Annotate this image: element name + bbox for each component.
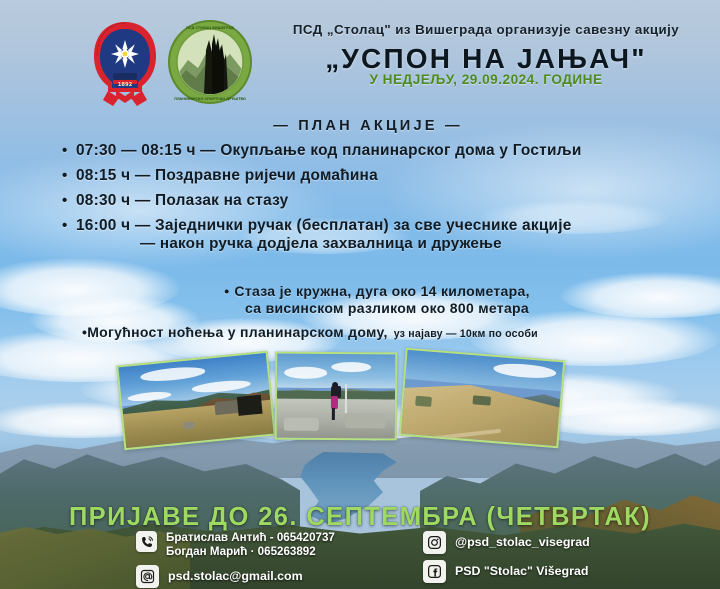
photo-rock	[183, 421, 194, 429]
note-text: Могућност ноћења у планинарском дому,	[87, 324, 388, 340]
schedule-item: • 08:15 ч — Поздравне ријечи домаћина	[62, 167, 692, 185]
phone-contact-1: Братислав Антић - 065420737	[166, 531, 335, 545]
schedule-item-text: 08:15 ч — Поздравне ријечи домаћина	[76, 167, 378, 185]
headline-block: ПСД „Столац" из Вишеграда организује сав…	[258, 22, 714, 87]
schedule-item: • 16:00 ч — Заједнички ручак (бесплатан)…	[62, 217, 692, 235]
note-item-continuation: са висинском разликом око 800 метара	[62, 300, 692, 316]
bullet-icon: •	[62, 218, 76, 233]
registration-deadline-text: ПРИЈАВЕ ДО 26. СЕПТЕМБРА (ЧЕТВРТАК)	[0, 503, 720, 532]
photo-summit-pole	[345, 384, 347, 413]
phone-contact-lines: Братислав Антић - 065420737 Богдан Марић…	[166, 531, 335, 559]
photo-rock	[284, 417, 319, 431]
photo-hiker-legs	[332, 408, 335, 420]
contact-block: Братислав Антић - 065420737 Богдан Марић…	[0, 531, 720, 587]
schedule-item-text: 07:30 — 08:15 ч — Окупљање код планинарс…	[76, 142, 582, 160]
instagram-icon	[423, 531, 446, 554]
kicker-text: ПСД „Столац" из Вишеграда организује сав…	[258, 22, 714, 37]
photo-hiker-summit	[275, 352, 398, 441]
phone-icon	[136, 531, 157, 552]
page-title: „УСПОН НА ЈАЊАЧ"	[258, 43, 714, 75]
note-text: Стаза је кружна, дуга око 14 километара,	[234, 283, 529, 299]
photo-bush	[472, 396, 491, 406]
phone-contact-2: Богдан Марић · 065263892	[166, 545, 335, 559]
plan-heading: — ПЛАН АКЦИЈЕ —	[258, 118, 478, 134]
facebook-icon	[423, 560, 446, 583]
poster-canvas: 1892 ПСД СТОЛАЦ ВИШЕГР	[0, 0, 720, 589]
bullet-icon: •	[62, 193, 76, 208]
schedule-item: • 07:30 — 08:15 ч — Окупљање код планина…	[62, 142, 692, 160]
instagram-handle: @psd_stolac_visegrad	[455, 531, 590, 554]
schedule-list: • 07:30 — 08:15 ч — Окупљање код планина…	[62, 142, 692, 252]
email-at-icon	[136, 565, 159, 588]
contact-column-right: @psd_stolac_visegrad PSD "Stolac" Višegr…	[423, 531, 590, 589]
schedule-item-text: 08:30 ч — Полазак на стазу	[76, 192, 288, 210]
contact-row-email[interactable]: psd.stolac@gmail.com	[136, 565, 335, 588]
notes-list: •Стаза је кружна, дуга око 14 километара…	[62, 283, 692, 340]
note-text-small: уз најаву — 10км по особи	[394, 328, 538, 340]
schedule-item: • 08:30 ч — Полазак на стазу	[62, 192, 692, 210]
contact-row-phone[interactable]: Братислав Антић - 065420737 Богдан Марић…	[136, 531, 335, 559]
bullet-icon: •	[62, 168, 76, 183]
note-text: са висинском разликом око 800 метара	[245, 300, 529, 316]
photo-strip	[120, 352, 600, 457]
bullet-icon: •	[224, 283, 229, 299]
psd-stolac-emblem: ПСД СТОЛАЦ ВИШЕГРАД ПЛАНИНАРСКО СПОРТСКО…	[168, 20, 252, 104]
logo-group: 1892 ПСД СТОЛАЦ ВИШЕГР	[86, 16, 256, 108]
photo-bush	[416, 396, 432, 407]
psd-federation-emblem: 1892	[86, 18, 164, 108]
note-item: • Могућност ноћења у планинарском дому, …	[62, 324, 692, 340]
svg-text:ПСД СТОЛАЦ ВИШЕГРАД: ПСД СТОЛАЦ ВИШЕГРАД	[186, 26, 234, 30]
svg-text:ПЛАНИНАРСКО СПОРТСКО ДРУШТВО: ПЛАНИНАРСКО СПОРТСКО ДРУШТВО	[174, 97, 246, 101]
email-contact: psd.stolac@gmail.com	[168, 565, 303, 588]
schedule-sub-item: — након ручка додјела захвалница и друже…	[62, 235, 692, 252]
svg-text:1892: 1892	[118, 82, 133, 88]
facebook-page-name: PSD "Stolac" Višegrad	[455, 560, 588, 583]
contact-column-left: Братислав Антић - 065420737 Богдан Марић…	[136, 531, 335, 589]
contact-row-instagram[interactable]: @psd_stolac_visegrad	[423, 531, 590, 554]
note-item: •Стаза је кружна, дуга око 14 километара…	[62, 283, 692, 299]
photo-mountain-meadow	[116, 351, 276, 450]
photo-dry-grass-trail	[399, 348, 566, 449]
photo-rock	[345, 413, 385, 428]
photo-tree	[237, 394, 262, 416]
schedule-item-text: 16:00 ч — Заједнички ручак (бесплатан) з…	[76, 217, 572, 235]
bullet-icon: •	[62, 143, 76, 158]
contact-row-facebook[interactable]: PSD "Stolac" Višegrad	[423, 560, 590, 583]
